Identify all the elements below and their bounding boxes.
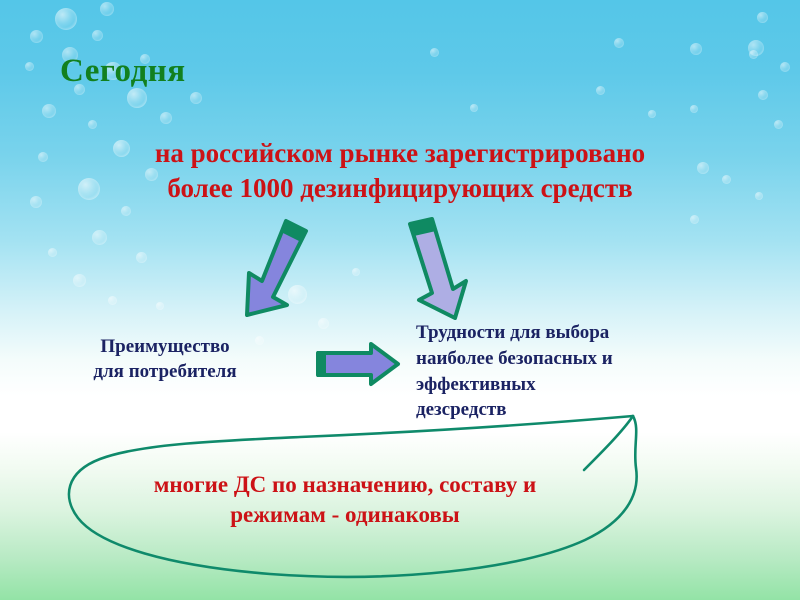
conclusion-text: многие ДС по назначению, составу и режим… <box>95 470 595 530</box>
arrow-down-right-icon <box>410 219 466 318</box>
left-branch-label: Преимущество для потребителя <box>50 334 280 385</box>
slide-title: Сегодня <box>60 52 186 90</box>
right-branch-label: Трудности для выбора наиболее безопасных… <box>416 320 706 423</box>
slide-canvas: Сегодня на российском рынке зарегистриро… <box>0 0 800 600</box>
lasso-loop-tail <box>584 416 633 470</box>
arrow-down-left-icon <box>247 221 306 315</box>
headline-text: на российском рынке зарегистрировано бол… <box>50 136 750 206</box>
arrow-right-icon <box>317 344 398 384</box>
